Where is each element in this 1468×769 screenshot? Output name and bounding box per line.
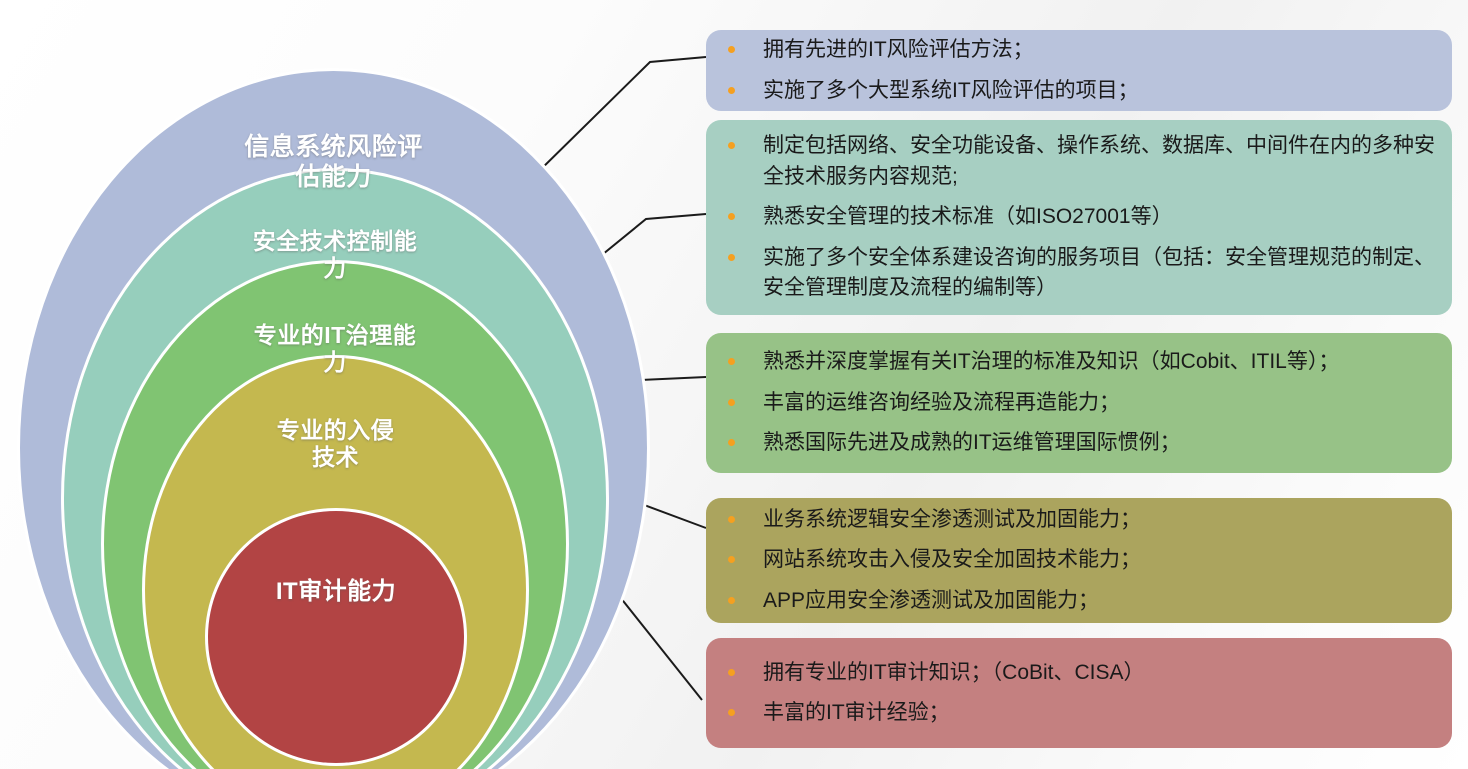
callout-3-bullet-1: 熟悉并深度掌握有关IT治理的标准及知识（如Cobit、ITIL等）； (763, 347, 1436, 377)
list-item: 网站系统攻击入侵及安全加固技术能力； (718, 545, 1436, 575)
bullet-dot-icon (728, 87, 735, 94)
bullet-dot-icon (728, 46, 735, 53)
list-item: 丰富的运维咨询经验及流程再造能力； (718, 388, 1436, 418)
list-item: 业务系统逻辑安全渗透测试及加固能力； (718, 505, 1436, 535)
callout-3-bullet-2: 丰富的运维咨询经验及流程再造能力； (763, 388, 1436, 418)
callout-box-it-governance[interactable]: 熟悉并深度掌握有关IT治理的标准及知识（如Cobit、ITIL等）； 丰富的运维… (706, 333, 1452, 473)
bullet-dot-icon (728, 439, 735, 446)
list-item: 拥有先进的IT风险评估方法； (718, 35, 1436, 65)
callout-5-bullet-2: 丰富的IT审计经验； (763, 698, 1436, 728)
list-item: 实施了多个安全体系建设咨询的服务项目（包括：安全管理规范的制定、安全管理制度及流… (718, 243, 1436, 304)
bullet-dot-icon (728, 709, 735, 716)
bullet-dot-icon (728, 213, 735, 220)
callout-4-bullet-2: 网站系统攻击入侵及安全加固技术能力； (763, 545, 1436, 575)
bullet-dot-icon (728, 597, 735, 604)
diagram-canvas: 信息系统风险评 估能力 安全技术控制能 力 专业的IT治理能 力 专业的入侵 技… (0, 0, 1468, 769)
bullet-dot-icon (728, 399, 735, 406)
ring-it-audit-capability[interactable] (205, 508, 467, 766)
callout-box-it-audit[interactable]: 拥有专业的IT审计知识；（CoBit、CISA） 丰富的IT审计经验； (706, 638, 1452, 748)
bullet-dot-icon (728, 142, 735, 149)
callout-1-bullet-1: 拥有先进的IT风险评估方法； (763, 35, 1436, 65)
bullet-dot-icon (728, 516, 735, 523)
concentric-rings-group: 信息系统风险评 估能力 安全技术控制能 力 专业的IT治理能 力 专业的入侵 技… (0, 0, 700, 769)
callout-2-bullet-1: 制定包括网络、安全功能设备、操作系统、数据库、中间件在内的多种安全技术服务内容规… (763, 131, 1436, 192)
bullet-dot-icon (728, 669, 735, 676)
list-item: 实施了多个大型系统IT风险评估的项目； (718, 76, 1436, 106)
callout-box-security-technology[interactable]: 制定包括网络、安全功能设备、操作系统、数据库、中间件在内的多种安全技术服务内容规… (706, 120, 1452, 315)
callout-1-bullet-2: 实施了多个大型系统IT风险评估的项目； (763, 76, 1436, 106)
callout-4-bullet-3: APP应用安全渗透测试及加固能力； (763, 586, 1436, 616)
callout-box-risk-assessment[interactable]: 拥有先进的IT风险评估方法； 实施了多个大型系统IT风险评估的项目； (706, 30, 1452, 111)
callout-2-bullet-2: 熟悉安全管理的技术标准（如ISO27001等） (763, 202, 1436, 232)
list-item: 熟悉并深度掌握有关IT治理的标准及知识（如Cobit、ITIL等）； (718, 347, 1436, 377)
callout-box-intrusion-technology[interactable]: 业务系统逻辑安全渗透测试及加固能力； 网站系统攻击入侵及安全加固技术能力； AP… (706, 498, 1452, 623)
bullet-dot-icon (728, 358, 735, 365)
bullet-dot-icon (728, 254, 735, 261)
callout-2-bullet-3: 实施了多个安全体系建设咨询的服务项目（包括：安全管理规范的制定、安全管理制度及流… (763, 243, 1436, 304)
list-item: 拥有专业的IT审计知识；（CoBit、CISA） (718, 658, 1436, 688)
callout-4-bullet-1: 业务系统逻辑安全渗透测试及加固能力； (763, 505, 1436, 535)
list-item: 熟悉国际先进及成熟的IT运维管理国际惯例； (718, 428, 1436, 458)
list-item: 丰富的IT审计经验； (718, 698, 1436, 728)
list-item: APP应用安全渗透测试及加固能力； (718, 586, 1436, 616)
list-item: 制定包括网络、安全功能设备、操作系统、数据库、中间件在内的多种安全技术服务内容规… (718, 131, 1436, 192)
callout-5-bullet-1: 拥有专业的IT审计知识；（CoBit、CISA） (763, 658, 1436, 688)
callout-3-bullet-3: 熟悉国际先进及成熟的IT运维管理国际惯例； (763, 428, 1436, 458)
list-item: 熟悉安全管理的技术标准（如ISO27001等） (718, 202, 1436, 232)
bullet-dot-icon (728, 556, 735, 563)
